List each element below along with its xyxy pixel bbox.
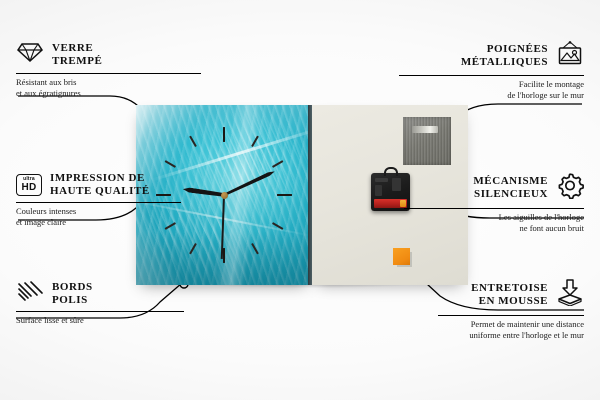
foam-spacer bbox=[393, 248, 410, 265]
feature-title: VERRE TREMPÉ bbox=[52, 42, 102, 68]
ultra-hd-large-text: HD bbox=[21, 183, 36, 193]
feature-poignees-metalliques[interactable]: POIGNÉES MÉTALLIQUES Facilite le montage… bbox=[399, 40, 584, 100]
diamond-icon bbox=[16, 40, 44, 69]
feature-description: Permet de maintenir une distance uniform… bbox=[438, 319, 584, 340]
feature-title: IMPRESSION DE HAUTE QUALITÉ bbox=[50, 172, 150, 198]
feature-description: Surface lisse et sûre bbox=[16, 315, 184, 326]
feature-description: Résistant aux bris et aux égratignures bbox=[16, 77, 201, 98]
clock-center-cap bbox=[221, 192, 228, 199]
feature-divider bbox=[438, 315, 584, 316]
polished-edges-icon bbox=[16, 280, 44, 307]
feature-entretoise-en-mousse[interactable]: ENTRETOISE EN MOUSSE Permet de maintenir… bbox=[438, 278, 584, 340]
hanging-frame-icon bbox=[556, 40, 584, 71]
movement-detail-b bbox=[392, 178, 401, 191]
clock-tick-3 bbox=[224, 194, 292, 196]
feature-divider bbox=[404, 208, 584, 209]
feature-description: Couleurs intenses et image claire bbox=[16, 206, 181, 227]
feature-divider bbox=[16, 202, 181, 203]
feature-title: POIGNÉES MÉTALLIQUES bbox=[461, 43, 548, 69]
movement-detail-c bbox=[375, 185, 382, 196]
feature-divider bbox=[399, 75, 584, 76]
feature-impression-haute-qualite[interactable]: ultra HD IMPRESSION DE HAUTE QUALITÉ Cou… bbox=[16, 172, 181, 227]
feature-divider bbox=[16, 73, 201, 74]
movement-hanging-loop bbox=[384, 167, 398, 176]
movement-detail-a bbox=[375, 178, 388, 182]
gear-icon bbox=[556, 172, 584, 204]
feature-title: BORDS POLIS bbox=[52, 281, 93, 307]
feature-title: ENTRETOISE EN MOUSSE bbox=[471, 282, 548, 308]
feature-divider bbox=[16, 311, 184, 312]
hanger-keyhole-slot bbox=[412, 126, 438, 133]
clock-tick-12 bbox=[223, 127, 225, 195]
feature-description: Les aiguilles de l'horloge ne font aucun… bbox=[404, 212, 584, 233]
feature-description: Facilite le montage de l'horloge sur le … bbox=[399, 79, 584, 100]
feature-mecanisme-silencieux[interactable]: MÉCANISME SILENCIEUX Les aiguilles de l'… bbox=[404, 172, 584, 233]
ultra-hd-badge-icon: ultra HD bbox=[16, 174, 42, 196]
infographic-canvas: VERRE TREMPÉ Résistant aux bris et aux é… bbox=[0, 0, 600, 400]
feature-verre-trempe[interactable]: VERRE TREMPÉ Résistant aux bris et aux é… bbox=[16, 40, 201, 98]
feature-bords-polis[interactable]: BORDS POLIS Surface lisse et sûre bbox=[16, 280, 184, 326]
press-down-pad-icon bbox=[556, 278, 584, 311]
feature-title: MÉCANISME SILENCIEUX bbox=[473, 175, 548, 201]
battery bbox=[374, 199, 407, 208]
metal-hanger-plate bbox=[403, 117, 451, 165]
